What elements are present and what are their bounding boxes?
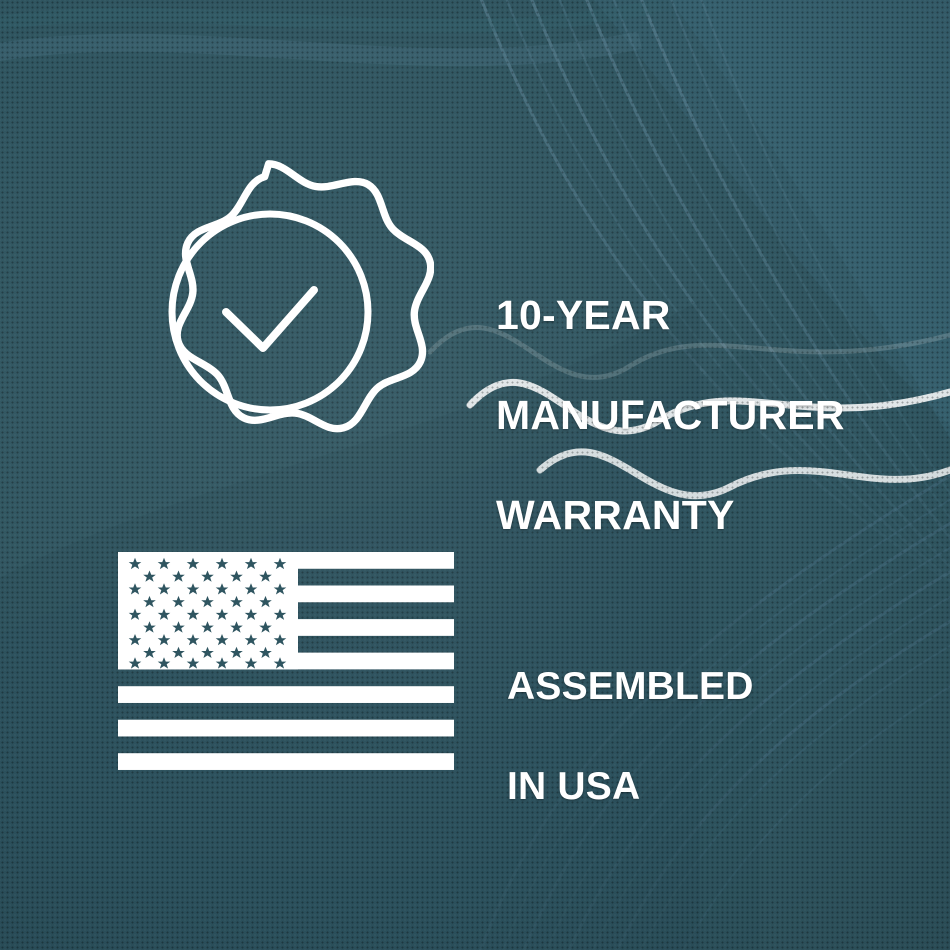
- warranty-line-1: 10-YEAR: [496, 290, 845, 340]
- warranty-line-3: WARRANTY: [496, 490, 845, 540]
- promo-graphic: 10-YEAR MANUFACTURER WARRANTY: [0, 0, 950, 950]
- usa-flag-icon: [118, 552, 454, 770]
- badge-check-seal-icon: [118, 160, 434, 478]
- warranty-text: 10-YEAR MANUFACTURER WARRANTY: [496, 240, 845, 590]
- assembled-line-1: ASSEMBLED: [507, 662, 754, 712]
- warranty-line-2: MANUFACTURER: [496, 390, 845, 440]
- assembled-line-2: IN USA: [507, 762, 754, 812]
- assembled-text: ASSEMBLED IN USA: [507, 612, 754, 862]
